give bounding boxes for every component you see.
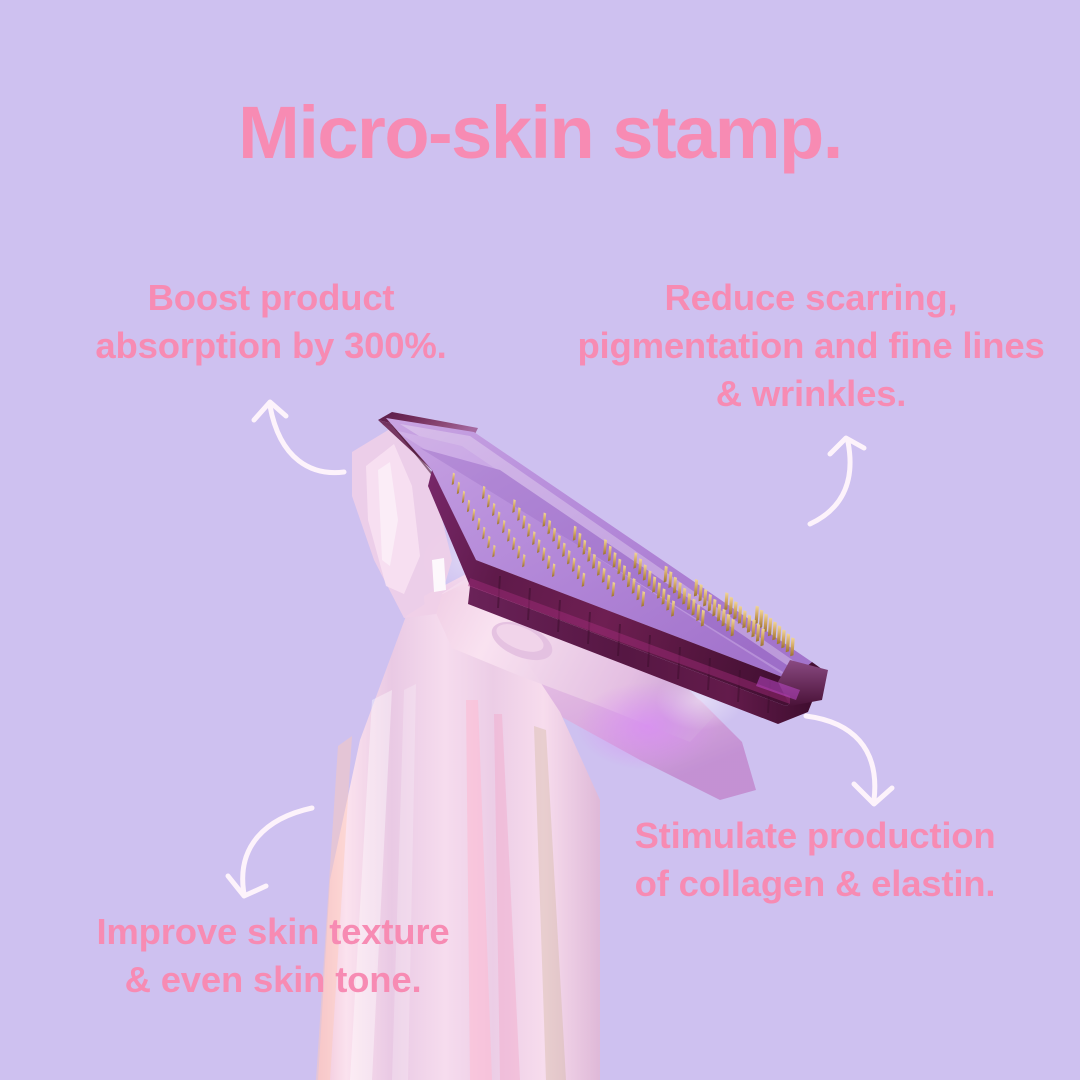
- microneedle: [617, 559, 621, 575]
- microneedle: [477, 518, 480, 530]
- caption-line: & wrinkles.: [566, 370, 1056, 418]
- microneedle: [756, 624, 760, 642]
- microneedle: [567, 550, 571, 564]
- microneedle: [613, 552, 617, 568]
- feature-caption-reduce-scarring: Reduce scarring, pigmentation and fine l…: [566, 274, 1056, 418]
- microneedle: [577, 565, 581, 579]
- microneedle: [664, 566, 668, 583]
- microneedle: [562, 543, 566, 557]
- microneedle: [492, 503, 495, 516]
- microneedle: [502, 520, 505, 533]
- microneedle: [643, 564, 647, 580]
- microneedle: [781, 630, 785, 649]
- microneedle: [542, 547, 546, 561]
- microneedle: [662, 588, 666, 604]
- microneedle: [612, 582, 616, 597]
- microneedle: [487, 495, 490, 508]
- microneedle: [552, 528, 556, 542]
- microneedle: [666, 594, 670, 610]
- microneedle: [641, 591, 645, 607]
- microneedle: [673, 577, 677, 594]
- microneedle: [768, 618, 772, 637]
- microneedle: [777, 626, 782, 645]
- microneedle: [602, 568, 606, 583]
- microneedle: [452, 473, 455, 485]
- microneedle: [678, 582, 682, 599]
- caption-line: absorption by 300%.: [36, 322, 506, 370]
- microneedle: [738, 606, 742, 624]
- caption-line: pigmentation and fine lines: [566, 322, 1056, 370]
- microneedle: [760, 628, 764, 646]
- microneedle: [522, 554, 525, 567]
- microneedle: [592, 554, 596, 569]
- microneedle: [731, 619, 735, 637]
- microneedle: [724, 592, 728, 610]
- microneedle: [712, 599, 716, 617]
- microneedle: [517, 546, 520, 559]
- microneedle: [512, 537, 515, 550]
- microneedle: [552, 563, 556, 577]
- microneedle: [717, 604, 721, 622]
- caption-line: of collagen & elastin.: [590, 860, 1040, 908]
- microneedle: [668, 571, 672, 588]
- microneedle: [772, 622, 777, 641]
- caption-line: Improve skin texture: [48, 908, 498, 956]
- microneedle: [582, 573, 586, 587]
- microneedle: [603, 539, 607, 555]
- microneedle: [627, 572, 631, 588]
- microneedle: [759, 610, 764, 629]
- microneedle: [543, 513, 547, 527]
- microneedle: [648, 570, 652, 586]
- page-title: Micro-skin stamp.: [0, 96, 1080, 170]
- poster-canvas: Micro-skin stamp. Boost product absorpti…: [0, 0, 1080, 1080]
- microneedle: [573, 526, 577, 541]
- microneedle: [482, 486, 485, 499]
- microneedle: [578, 533, 582, 548]
- microneedle: [733, 601, 737, 619]
- microneedle: [633, 552, 637, 568]
- microneedle: [608, 546, 612, 562]
- microneedle: [622, 565, 626, 581]
- microneedle: [572, 558, 576, 572]
- microneedle: [657, 582, 661, 598]
- microneedle: [726, 614, 730, 632]
- microneedle: [517, 507, 521, 521]
- microneedle: [755, 606, 759, 625]
- product-head: [378, 412, 828, 724]
- microneedle: [696, 604, 700, 621]
- microneedle: [694, 579, 698, 597]
- microneedle: [587, 547, 591, 562]
- microneedle: [722, 609, 726, 627]
- microneedle: [522, 515, 526, 529]
- feature-caption-stimulate-collagen: Stimulate production of collagen & elast…: [590, 812, 1040, 908]
- caption-line: & even skin tone.: [48, 956, 498, 1004]
- microneedle: [682, 588, 686, 605]
- microneedle: [708, 594, 712, 611]
- microneedle: [512, 499, 516, 513]
- microneedle: [747, 615, 751, 633]
- microneedle: [492, 545, 495, 557]
- microneedle: [547, 520, 551, 534]
- microneedle: [699, 584, 703, 601]
- microneedle: [472, 509, 475, 521]
- microneedle: [462, 491, 465, 503]
- microneedle: [790, 637, 795, 656]
- microneedle: [692, 599, 696, 616]
- curved-arrow-up-left-icon: [248, 390, 348, 482]
- microneedle: [687, 593, 691, 610]
- feature-caption-boost-absorption: Boost product absorption by 300%.: [36, 274, 506, 370]
- microneedle: [597, 561, 601, 576]
- microneedle: [671, 600, 675, 616]
- microneedle: [457, 482, 460, 494]
- feature-caption-improve-texture: Improve skin texture & even skin tone.: [48, 908, 498, 1004]
- microneedle: [786, 633, 791, 652]
- microneedle: [607, 575, 611, 590]
- microneedle: [532, 531, 536, 545]
- microneedle: [527, 523, 531, 537]
- microneedle: [537, 539, 541, 553]
- curved-arrow-down-right-icon: [796, 706, 896, 810]
- curved-arrow-up-right-icon: [806, 428, 902, 528]
- microneedle: [751, 619, 755, 637]
- microneedle: [482, 527, 485, 539]
- caption-line: Reduce scarring,: [566, 274, 1056, 322]
- microneedle: [487, 536, 490, 548]
- microneedle: [497, 512, 500, 525]
- caption-line: Stimulate production: [590, 812, 1040, 860]
- microneedle: [557, 535, 561, 549]
- microneedle: [467, 500, 470, 512]
- caption-line: Boost product: [36, 274, 506, 322]
- microneedle: [763, 614, 768, 633]
- microneedle: [742, 610, 746, 628]
- microneedle: [547, 555, 551, 569]
- microneedle: [507, 529, 510, 542]
- microneedle: [701, 610, 705, 627]
- microneedle: [703, 589, 707, 606]
- curved-arrow-down-left-icon: [222, 802, 318, 902]
- microneedle: [632, 578, 636, 594]
- microneedle: [652, 576, 656, 592]
- microneedle: [729, 597, 733, 615]
- microneedle: [637, 585, 641, 601]
- needle-grid: [452, 473, 795, 657]
- microneedle: [638, 558, 642, 574]
- microneedle: [583, 540, 587, 555]
